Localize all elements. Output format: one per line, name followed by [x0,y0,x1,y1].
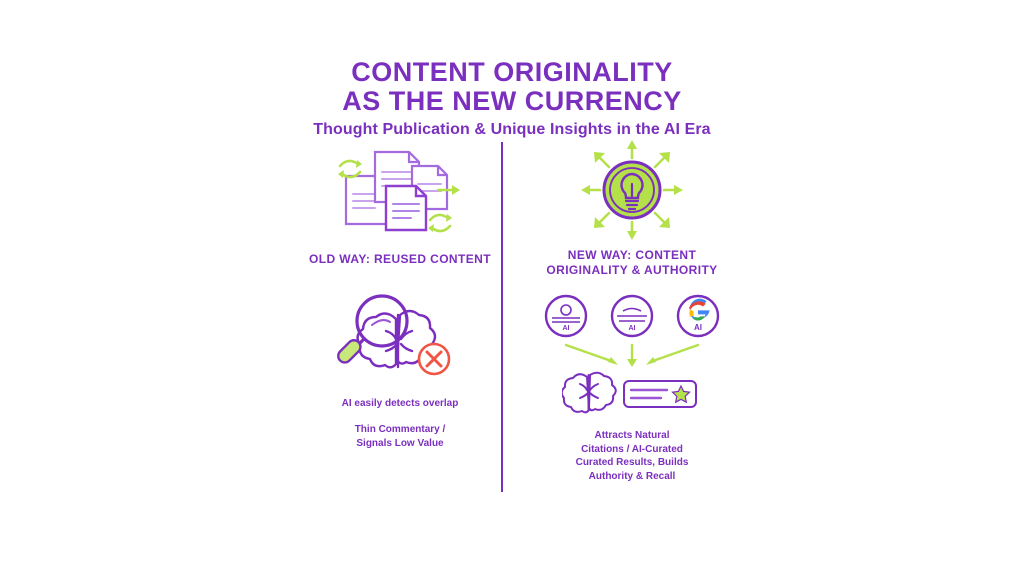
left-panel-heading: OLD WAY: REUSED CONTENT [270,252,530,267]
right-caption-list: Attracts Natural Citations / AI-Curated … [502,429,762,483]
converging-arrows [502,343,762,369]
page-title-line-2: AS THE NEW CURRENCY [0,87,1024,116]
header-title-block: CONTENT ORIGINALITY AS THE NEW CURRENCY … [0,58,1024,139]
right-panel-heading-line-2: ORIGINALITY & AUTHORITY [502,263,762,278]
page-subtitle: Thought Publication & Unique Insights in… [0,121,1024,139]
google-ai-label: AI [694,323,702,332]
page-title-line-1: CONTENT ORIGINALITY [0,58,1024,87]
right-caption-line-2: Citations / AI-Curated [502,443,762,457]
right-caption-line-1: Attracts Natural [502,429,762,443]
google-ai-logo-icon[interactable]: AI [676,294,720,343]
ai-detection-magnifier-icon [270,285,530,385]
idea-lightbulb-radiating-icon [502,142,762,238]
ai-platform-logo-icon[interactable]: AI [544,294,588,343]
right-caption-line-4: Authority & Recall [502,470,762,484]
left-column: OLD WAY: REUSED CONTENT [270,142,530,451]
left-caption-main: AI easily detects overlap [270,397,530,411]
ai-assistant-label: AI [629,325,636,332]
brain-authority-icon [502,369,762,419]
left-caption-sub-line-1: Thin Commentary / [270,423,530,437]
ai-assistant-logo-icon[interactable]: AI [610,294,654,343]
ai-platforms-row: AI AI [502,294,762,343]
right-caption-line-3: Curated Results, Builds [502,456,762,470]
ai-platform-label: AI [563,325,570,332]
reused-documents-icon [270,142,530,238]
left-caption-sub: Thin Commentary / Signals Low Value [270,423,530,451]
left-caption-sub-line-2: Signals Low Value [270,437,530,451]
right-column: NEW WAY: CONTENT ORIGINALITY & AUTHORITY… [502,142,762,483]
infographic-canvas: CONTENT ORIGINALITY AS THE NEW CURRENCY … [0,0,1024,576]
right-panel-heading-line-1: NEW WAY: CONTENT [502,248,762,263]
right-panel-heading: NEW WAY: CONTENT ORIGINALITY & AUTHORITY [502,248,762,278]
